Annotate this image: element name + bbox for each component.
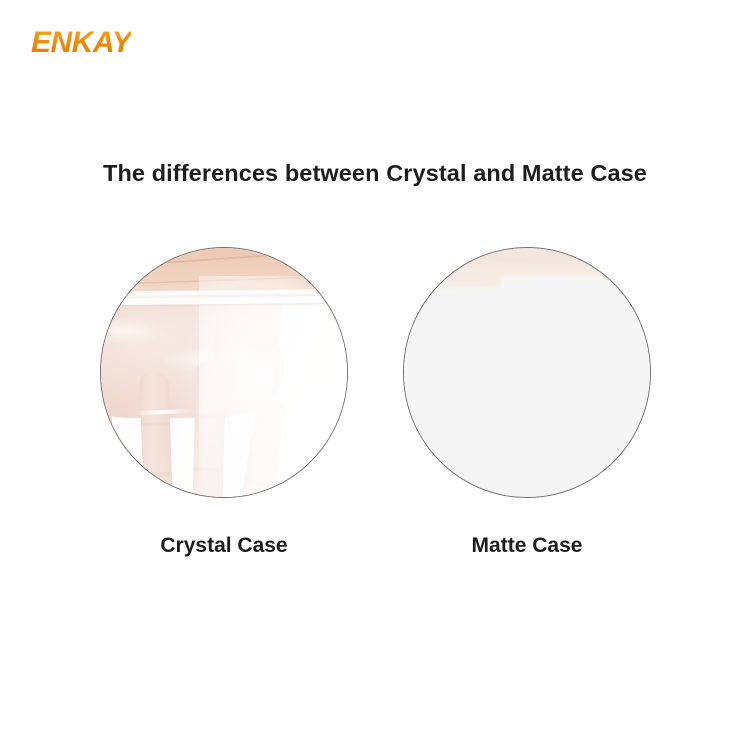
crystal-case-scene <box>100 247 348 498</box>
case-sheen-highlight <box>502 276 651 498</box>
page-title: The differences between Crystal and Matt… <box>0 160 750 187</box>
comparison-item-matte: Matte Case <box>403 247 651 498</box>
case-sheen-highlight <box>199 276 348 498</box>
caption-matte-case: Matte Case <box>403 534 651 558</box>
matte-case-photo <box>403 247 651 498</box>
crystal-case-photo <box>100 247 348 498</box>
caption-crystal-case: Crystal Case <box>100 534 348 558</box>
brand-logo: ENKAY <box>31 28 131 58</box>
case-comparison: Crystal Case Matte Case <box>0 247 750 577</box>
comparison-item-crystal: Crystal Case <box>100 247 348 498</box>
matte-case-scene <box>403 247 651 498</box>
